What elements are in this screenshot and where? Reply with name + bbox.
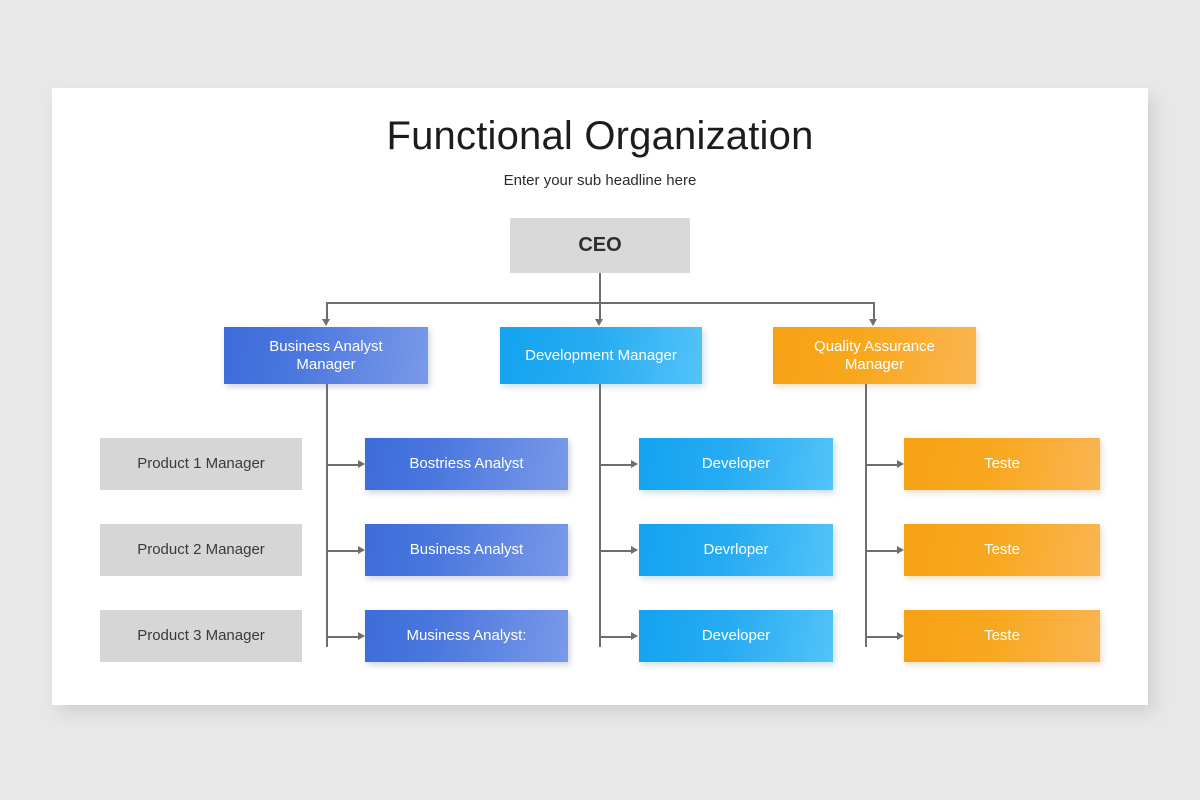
- node-qa-manager-label-line2: Manager: [814, 356, 935, 374]
- node-ba-manager-label-line1: Business Analyst: [269, 338, 382, 356]
- node-product-3-label: Product 3 Manager: [137, 627, 265, 645]
- page-subtitle: Enter your sub headline here: [52, 172, 1148, 189]
- arrow-right-qa-row2-icon: [897, 546, 904, 554]
- node-analyst-2[interactable]: Business Analyst: [365, 524, 568, 576]
- arrow-right-ba-row1-icon: [358, 460, 365, 468]
- node-developer-2[interactable]: Devrloper: [639, 524, 833, 576]
- node-developer-1[interactable]: Developer: [639, 438, 833, 490]
- node-development-manager[interactable]: Development Manager: [500, 327, 702, 384]
- slide-canvas: Functional Organization Enter your sub h…: [52, 88, 1148, 705]
- node-tester-3[interactable]: Teste: [904, 610, 1100, 662]
- node-developer-3[interactable]: Developer: [639, 610, 833, 662]
- node-ceo-label: CEO: [578, 234, 621, 258]
- node-analyst-1[interactable]: Bostriess Analyst: [365, 438, 568, 490]
- connector-dev-row3: [599, 636, 631, 638]
- node-ba-manager-label-line2: Manager: [269, 356, 382, 374]
- node-tester-2-label: Teste: [984, 541, 1020, 559]
- connector-ba-row3: [326, 636, 358, 638]
- node-developer-1-label: Developer: [702, 455, 770, 473]
- connector-drop-ba: [326, 302, 328, 319]
- arrow-down-qa-icon: [869, 319, 877, 326]
- node-analyst-1-label: Bostriess Analyst: [409, 455, 523, 473]
- spine-development: [599, 384, 601, 647]
- spine-quality-assurance: [865, 384, 867, 647]
- arrow-right-qa-row3-icon: [897, 632, 904, 640]
- node-tester-1-label: Teste: [984, 455, 1020, 473]
- connector-qa-row2: [865, 550, 897, 552]
- node-tester-2[interactable]: Teste: [904, 524, 1100, 576]
- arrow-down-ba-icon: [322, 319, 330, 326]
- connector-ba-row2: [326, 550, 358, 552]
- page-title: Functional Organization: [52, 114, 1148, 159]
- connector-ba-row1: [326, 464, 358, 466]
- arrow-right-ba-row2-icon: [358, 546, 365, 554]
- node-ceo[interactable]: CEO: [510, 218, 690, 273]
- node-developer-2-label: Devrloper: [703, 541, 768, 559]
- node-product-2-label: Product 2 Manager: [137, 541, 265, 559]
- connector-drop-dev: [599, 302, 601, 319]
- node-tester-3-label: Teste: [984, 627, 1020, 645]
- arrow-down-dev-icon: [595, 319, 603, 326]
- connector-dev-row1: [599, 464, 631, 466]
- node-product-1-manager[interactable]: Product 1 Manager: [100, 438, 302, 490]
- node-dev-manager-label: Development Manager: [525, 347, 677, 365]
- node-analyst-3-label: Musiness Analyst:: [406, 627, 526, 645]
- node-product-3-manager[interactable]: Product 3 Manager: [100, 610, 302, 662]
- connector-qa-row3: [865, 636, 897, 638]
- connector-drop-qa: [873, 302, 875, 319]
- node-tester-1[interactable]: Teste: [904, 438, 1100, 490]
- arrow-right-qa-row1-icon: [897, 460, 904, 468]
- node-qa-manager-label-line1: Quality Assurance: [814, 338, 935, 356]
- arrow-right-ba-row3-icon: [358, 632, 365, 640]
- node-product-2-manager[interactable]: Product 2 Manager: [100, 524, 302, 576]
- node-product-1-label: Product 1 Manager: [137, 455, 265, 473]
- connector-dev-row2: [599, 550, 631, 552]
- connector-ceo-trunk: [599, 273, 601, 303]
- spine-business-analyst: [326, 384, 328, 647]
- node-business-analyst-manager[interactable]: Business Analyst Manager: [224, 327, 428, 384]
- node-quality-assurance-manager[interactable]: Quality Assurance Manager: [773, 327, 976, 384]
- arrow-right-dev-row3-icon: [631, 632, 638, 640]
- node-developer-3-label: Developer: [702, 627, 770, 645]
- node-analyst-3[interactable]: Musiness Analyst:: [365, 610, 568, 662]
- node-analyst-2-label: Business Analyst: [410, 541, 523, 559]
- arrow-right-dev-row1-icon: [631, 460, 638, 468]
- connector-qa-row1: [865, 464, 897, 466]
- arrow-right-dev-row2-icon: [631, 546, 638, 554]
